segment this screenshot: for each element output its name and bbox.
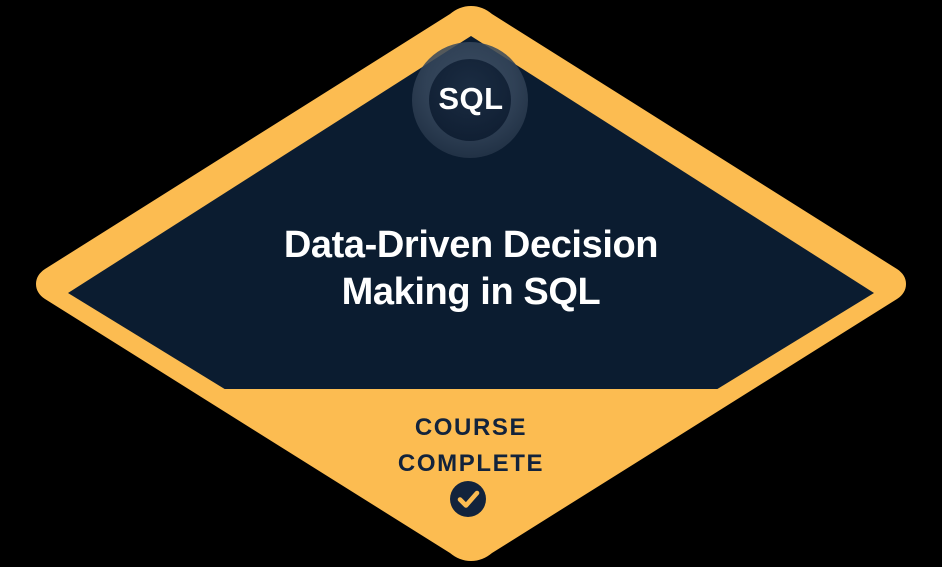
course-completion-badge: SQL Data-Driven Decision Making in SQL C…: [0, 0, 942, 567]
badge-graphic: [0, 0, 942, 567]
track-badge-inner: [429, 59, 511, 141]
check-circle-background: [450, 481, 486, 517]
